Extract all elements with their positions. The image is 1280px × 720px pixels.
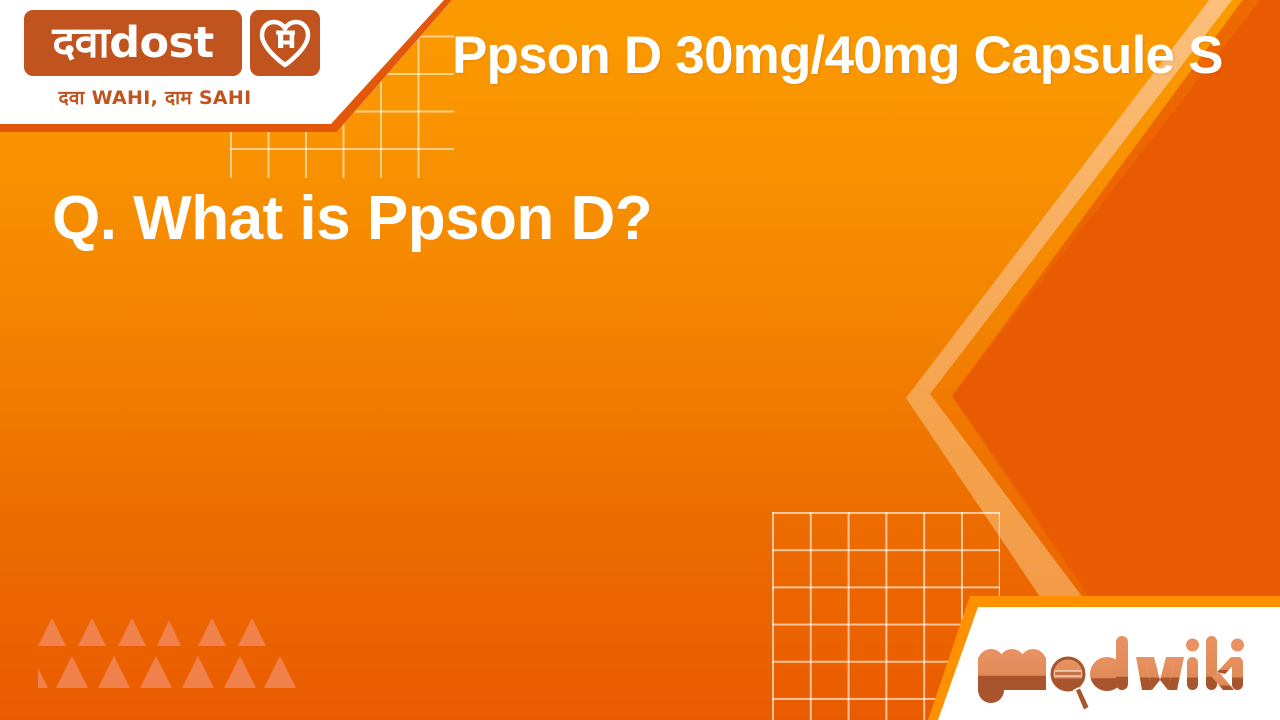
page-title: Ppson D 30mg/40mg Capsule S	[452, 26, 1280, 87]
dawadost-logo[interactable]: दवाdost	[24, 10, 320, 76]
dawadost-wordmark-tile: दवाdost	[24, 10, 242, 76]
dawadost-tagline: दवा WAHI, दाम SAHI	[24, 84, 286, 110]
medwiki-letter-i2	[1231, 639, 1244, 691]
dawadost-wordmark-text: दवाdost	[52, 22, 213, 65]
brand-logo-card: दवाdost दवा WAHI, दाम SAHI	[0, 0, 452, 132]
triangle-pattern	[38, 618, 308, 710]
heart-icon	[258, 18, 312, 68]
medwiki-letter-i1	[1186, 639, 1199, 691]
medwiki-logo-card[interactable]	[928, 596, 1280, 720]
question-heading: Q. What is Ppson D?	[52, 182, 952, 256]
slide-canvas: दवाdost दवा WAHI, दाम SAHI Ppson D 30mg/…	[0, 0, 1280, 720]
dawadost-heart-tile	[250, 10, 320, 76]
medwiki-letter-w	[1136, 657, 1184, 690]
medwiki-letter-d	[1090, 636, 1128, 691]
heart-inner-letter	[276, 31, 295, 49]
medwiki-logo	[976, 624, 1244, 710]
